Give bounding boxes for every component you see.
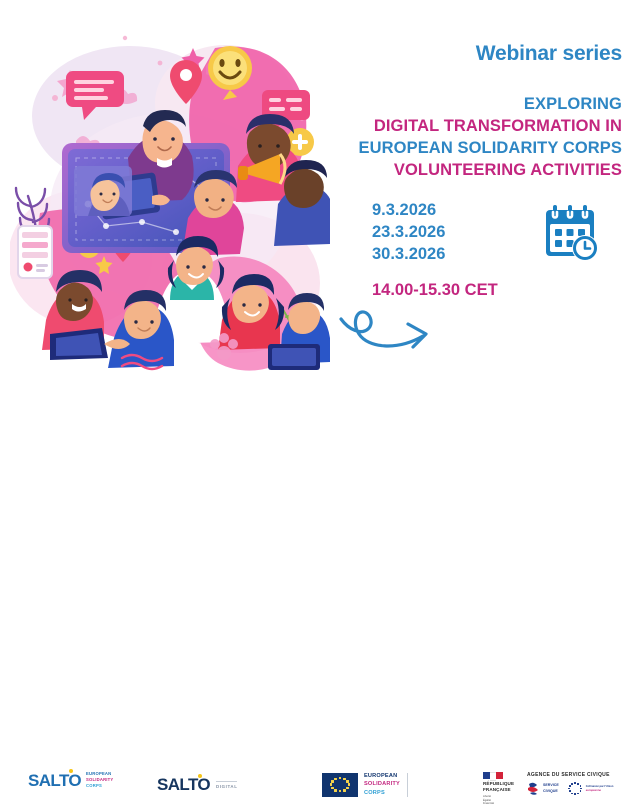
salto-wordmark: SALTO [28, 772, 81, 789]
webinar-time: 14.00-15.30 CET [372, 281, 498, 300]
salto-digital-logo: SALTO DIGITAL [157, 776, 237, 793]
webinar-dates-list: 9.3.2026 23.3.2026 30.3.2026 [372, 200, 445, 266]
eu-flag-icon [322, 773, 358, 797]
agence-du-service-civique-logo: AGENCE DU SERVICE CIVIQUE SERVICE CIVIQU… [527, 772, 613, 796]
french-flag-icon [483, 772, 503, 779]
asc-title: AGENCE DU SERVICE CIVIQUE [527, 772, 610, 778]
service-civique-label: SERVICE CIVIQUE [543, 783, 559, 793]
salto-esc-subtitle: EUROPEAN SOLIDARITY CORPS [86, 771, 113, 789]
salto-european-solidarity-corps-logo: SALTO EUROPEAN SOLIDARITY CORPS [28, 771, 113, 789]
french-motto: Liberté Égalité Fraternité [483, 795, 494, 805]
asc-logo-row: SERVICE CIVIQUE [527, 781, 613, 796]
title-line-4: VOLUNTEERING ACTIVITIES [359, 160, 622, 182]
poster-content: Webinar series EXPLORING DIGITAL TRANSFO… [330, 0, 640, 378]
webinar-date-1: 9.3.2026 [372, 200, 445, 222]
esc-line-1: EUROPEAN [364, 772, 400, 780]
page-title: EXPLORING DIGITAL TRANSFORMATION IN EURO… [359, 94, 622, 182]
salto-digital-subtitle: DIGITAL [216, 781, 237, 789]
salto-digital-wordmark: SALTO [157, 776, 210, 793]
eu-stars-icon [567, 781, 584, 796]
title-line-1: EXPLORING [359, 94, 622, 116]
cofinance-union-europeenne-logo: Cofinancé par l'Union européenne [567, 781, 614, 796]
salto-esc-line-3: CORPS [86, 783, 113, 789]
digital-collaboration-collage-illustration [10, 8, 330, 380]
service-civique-label-1: SERVICE [543, 783, 559, 787]
webinar-series-kicker: Webinar series [476, 42, 622, 66]
footer-logo-bar: SALTO EUROPEAN SOLIDARITY CORPS SALTO DI… [0, 380, 640, 426]
logo-divider [407, 773, 408, 797]
title-line-3: EUROPEAN SOLIDARITY CORPS [359, 138, 622, 160]
european-solidarity-corps-eu-logo: EUROPEAN SOLIDARITY CORPS [322, 772, 408, 797]
cofinance-line-1: Cofinancé par l'Union [586, 785, 614, 789]
cofinance-text: Cofinancé par l'Union européenne [586, 785, 614, 792]
webinar-date-3: 30.3.2026 [372, 244, 445, 266]
esc-wordmark: EUROPEAN SOLIDARITY CORPS [364, 772, 400, 797]
esc-line-3: CORPS [364, 789, 400, 797]
webinar-promo-poster: Webinar series EXPLORING DIGITAL TRANSFO… [0, 0, 640, 426]
webinar-date-2: 23.3.2026 [372, 222, 445, 244]
cofinance-line-2: européenne [586, 789, 614, 793]
calendar-clock-icon [540, 203, 600, 263]
republique-francaise-logo: RÉPUBLIQUE FRANÇAISE Liberté Égalité Fra… [483, 772, 514, 805]
salto-dot-icon [69, 769, 73, 773]
title-line-2: DIGITAL TRANSFORMATION IN [359, 116, 622, 138]
service-civique-label-2: CIVIQUE [543, 789, 558, 793]
salto-digital-dot-icon [198, 774, 202, 778]
service-civique-mark-icon [527, 781, 540, 796]
curved-arrow-icon [335, 303, 445, 361]
esc-line-2: SOLIDARITY [364, 780, 400, 788]
republique-francaise-line-2: FRANÇAISE [483, 787, 511, 793]
